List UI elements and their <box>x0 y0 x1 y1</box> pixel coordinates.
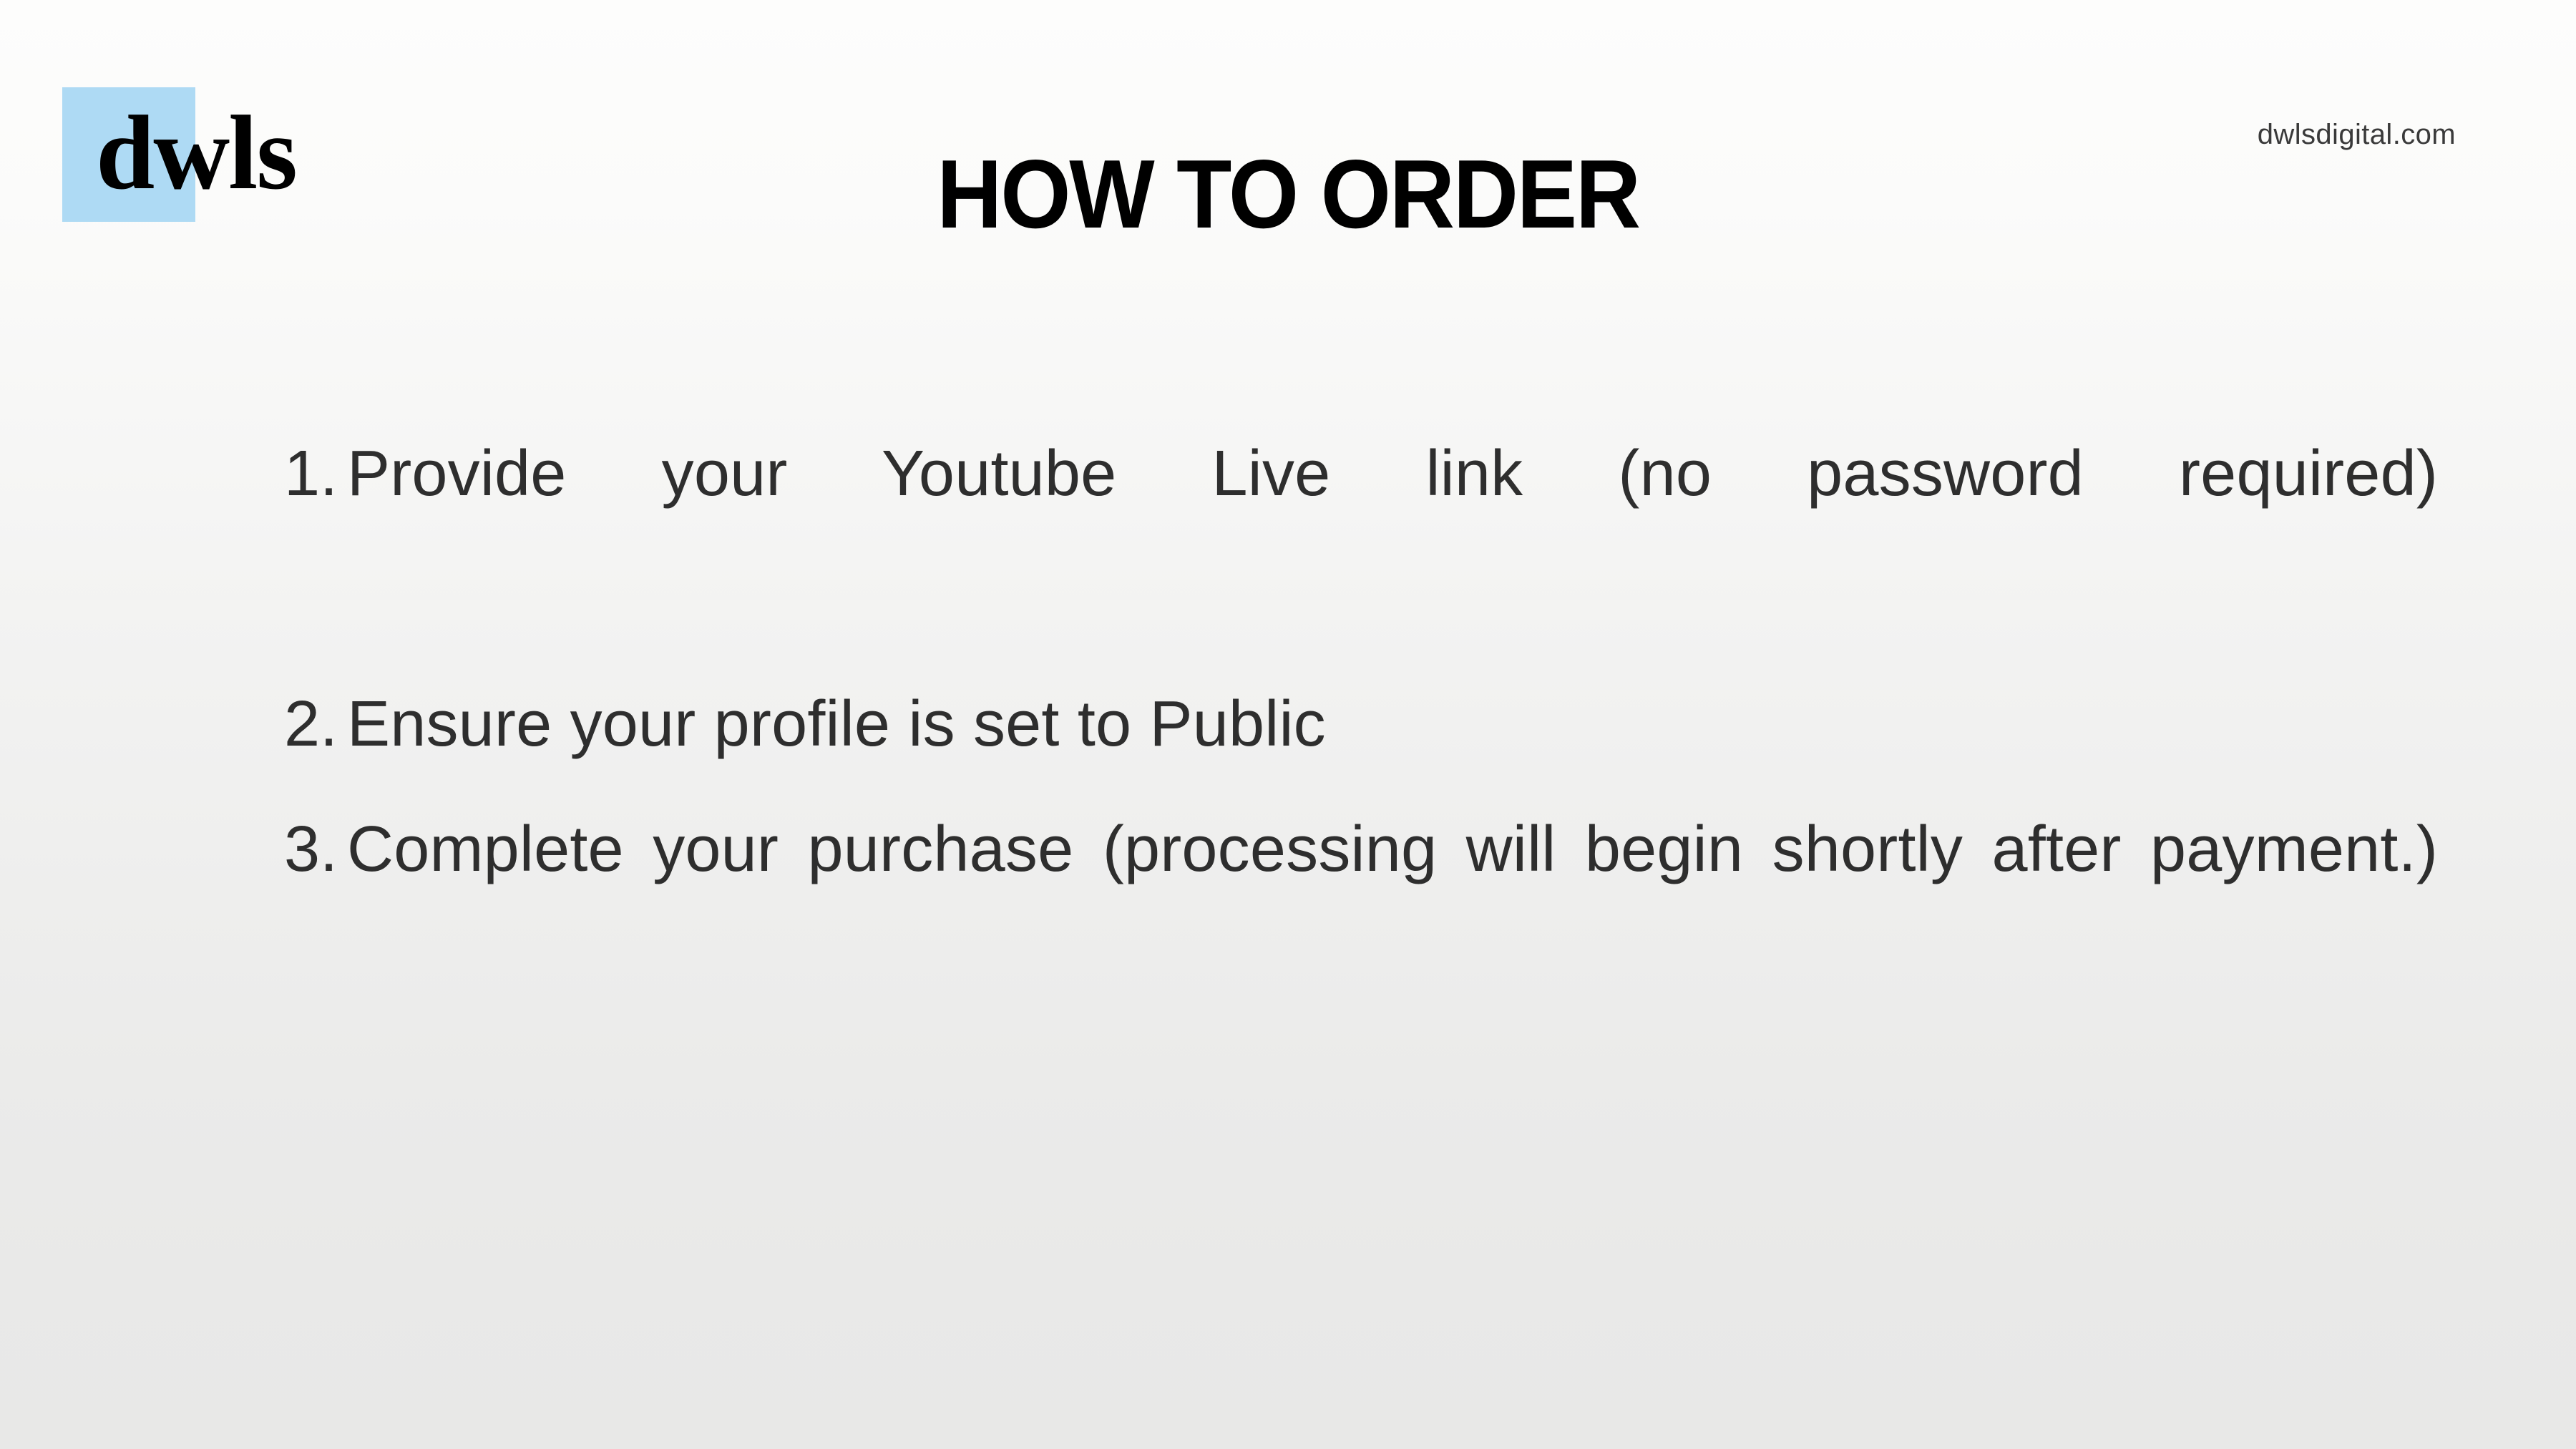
slide-canvas: dwls HOW TO ORDER dwlsdigital.com 1. Pro… <box>0 0 2576 1449</box>
list-item-text: Provide your Youtube Live link (no passw… <box>347 411 2438 662</box>
list-item: 3. Complete your purchase (processing wi… <box>266 787 2438 1038</box>
list-item: 2. Ensure your profile is set to Public <box>266 662 2438 787</box>
list-item: 1. Provide your Youtube Live link (no pa… <box>266 411 2438 662</box>
site-url-label: dwlsdigital.com <box>2258 118 2456 151</box>
list-item-marker: 2. <box>266 662 338 787</box>
how-to-order-list: 1. Provide your Youtube Live link (no pa… <box>266 411 2438 1038</box>
list-item-text: Ensure your profile is set to Public <box>347 662 2438 787</box>
list-item-marker: 3. <box>266 787 338 912</box>
list-item-text: Complete your purchase (processing will … <box>347 787 2438 1038</box>
list-item-marker: 1. <box>266 411 338 537</box>
page-title: HOW TO ORDER <box>90 140 2486 248</box>
